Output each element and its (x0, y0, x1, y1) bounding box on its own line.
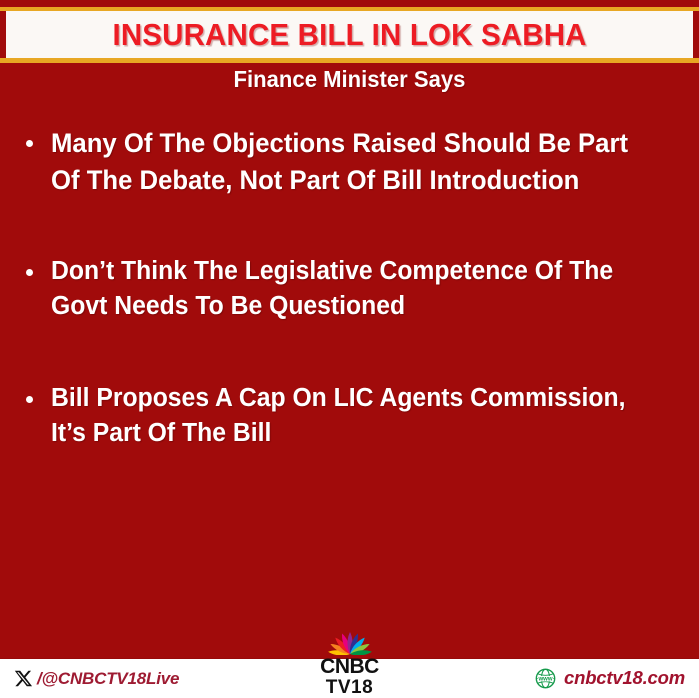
website-label[interactable]: cnbctv18.com (564, 669, 685, 688)
www-globe-icon[interactable]: www (535, 668, 556, 689)
logo-sub-wordmark: TV18 (326, 678, 373, 698)
list-item: Don’t Think The Legislative Competence O… (26, 254, 677, 324)
svg-text:www: www (537, 676, 552, 682)
logo-wordmark: CNBC (320, 656, 379, 677)
under-headline-gold-rule (0, 58, 699, 63)
bullet-dot-icon (26, 140, 33, 147)
peacock-feathers-icon (321, 622, 379, 655)
page-title: INSURANCE BILL IN LOK SABHA (112, 19, 586, 50)
list-item: Many Of The Objections Raised Should Be … (26, 125, 677, 198)
social-handle-group[interactable]: /@CNBCTV18Live (14, 669, 179, 688)
bullet-list: Many Of The Objections Raised Should Be … (0, 125, 699, 451)
bullet-dot-icon (26, 396, 33, 403)
website-group[interactable]: www cnbctv18.com (535, 668, 685, 689)
channel-logo: CNBC TV18 (295, 622, 405, 698)
x-twitter-icon[interactable] (14, 669, 33, 688)
bullet-dot-icon (26, 269, 33, 276)
social-handle-label[interactable]: /@CNBCTV18Live (37, 670, 179, 687)
list-item-text: Bill Proposes A Cap On LIC Agents Commis… (51, 381, 658, 451)
list-item-text: Many Of The Objections Raised Should Be … (51, 125, 658, 198)
subtitle: Finance Minister Says (14, 66, 685, 94)
list-item-text: Don’t Think The Legislative Competence O… (51, 254, 658, 324)
news-graphic-card: INSURANCE BILL IN LOK SABHA Finance Mini… (0, 0, 699, 698)
headline-band: INSURANCE BILL IN LOK SABHA (0, 11, 699, 58)
top-red-rule (0, 0, 699, 7)
list-item: Bill Proposes A Cap On LIC Agents Commis… (26, 381, 677, 451)
